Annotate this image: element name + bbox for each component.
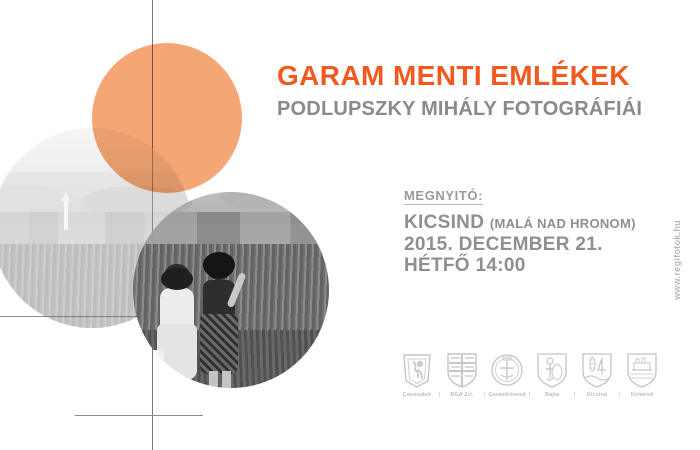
page-subtitle: PODLUPSZKY MIHÁLY FOTOGRÁFIÁI	[277, 98, 677, 121]
sponsor-label: Kicsind	[578, 392, 616, 398]
kicsind-shield-icon	[580, 351, 614, 389]
csemadok-emblem-icon	[400, 351, 434, 389]
sponsor-label: BGA Zrt.	[443, 392, 481, 398]
kemend-shield-icon	[625, 351, 659, 389]
label-separator: |	[481, 392, 488, 398]
event-date: 2015. DECEMBER 21.	[404, 234, 636, 255]
photo-handbag	[144, 350, 164, 376]
sponsor-label: Csemadok	[398, 392, 436, 398]
event-place-main: KICSIND	[404, 212, 484, 233]
label-separator: |	[616, 392, 623, 398]
label-separator: |	[526, 392, 533, 398]
photo-church-steeple	[64, 200, 68, 230]
poster-canvas: GARAM MENTI EMLÉKEK PODLUPSZKY MIHÁLY FO…	[0, 0, 700, 450]
bga-shield-icon	[445, 351, 479, 389]
sponsor-label: Bajta	[533, 392, 571, 398]
website-vertical-text[interactable]: www.regifotok.hu	[672, 220, 682, 300]
event-details: KICSIND (MALÁ NAD HRONOM) 2015. DECEMBER…	[404, 212, 636, 276]
photo-image-main	[133, 192, 329, 388]
bajta-shield-icon	[535, 351, 569, 389]
label-separator: |	[436, 392, 443, 398]
sponsor-label-row: Csemadok | BGA Zrt. | Garamkövesd | Bajt…	[398, 392, 674, 398]
event-day-time: HÉTFŐ 14:00	[404, 255, 636, 276]
garamkovesd-seal-icon	[490, 351, 524, 389]
sponsor-logo-row	[400, 349, 670, 389]
page-title: GARAM MENTI EMLÉKEK	[277, 60, 677, 92]
sponsor-label: Kéménd	[623, 392, 661, 398]
horizontal-guide-line-lower	[75, 415, 203, 416]
event-place-alt: (MALÁ NAD HRONOM)	[490, 216, 636, 231]
event-place-line: KICSIND (MALÁ NAD HRONOM)	[404, 212, 636, 234]
sponsor-label: Garamkövesd	[488, 392, 526, 398]
opening-label: MEGNYITÓ:	[404, 188, 483, 205]
orange-accent-circle	[92, 43, 242, 193]
label-separator: |	[571, 392, 578, 398]
photo-circle-main	[133, 192, 329, 388]
